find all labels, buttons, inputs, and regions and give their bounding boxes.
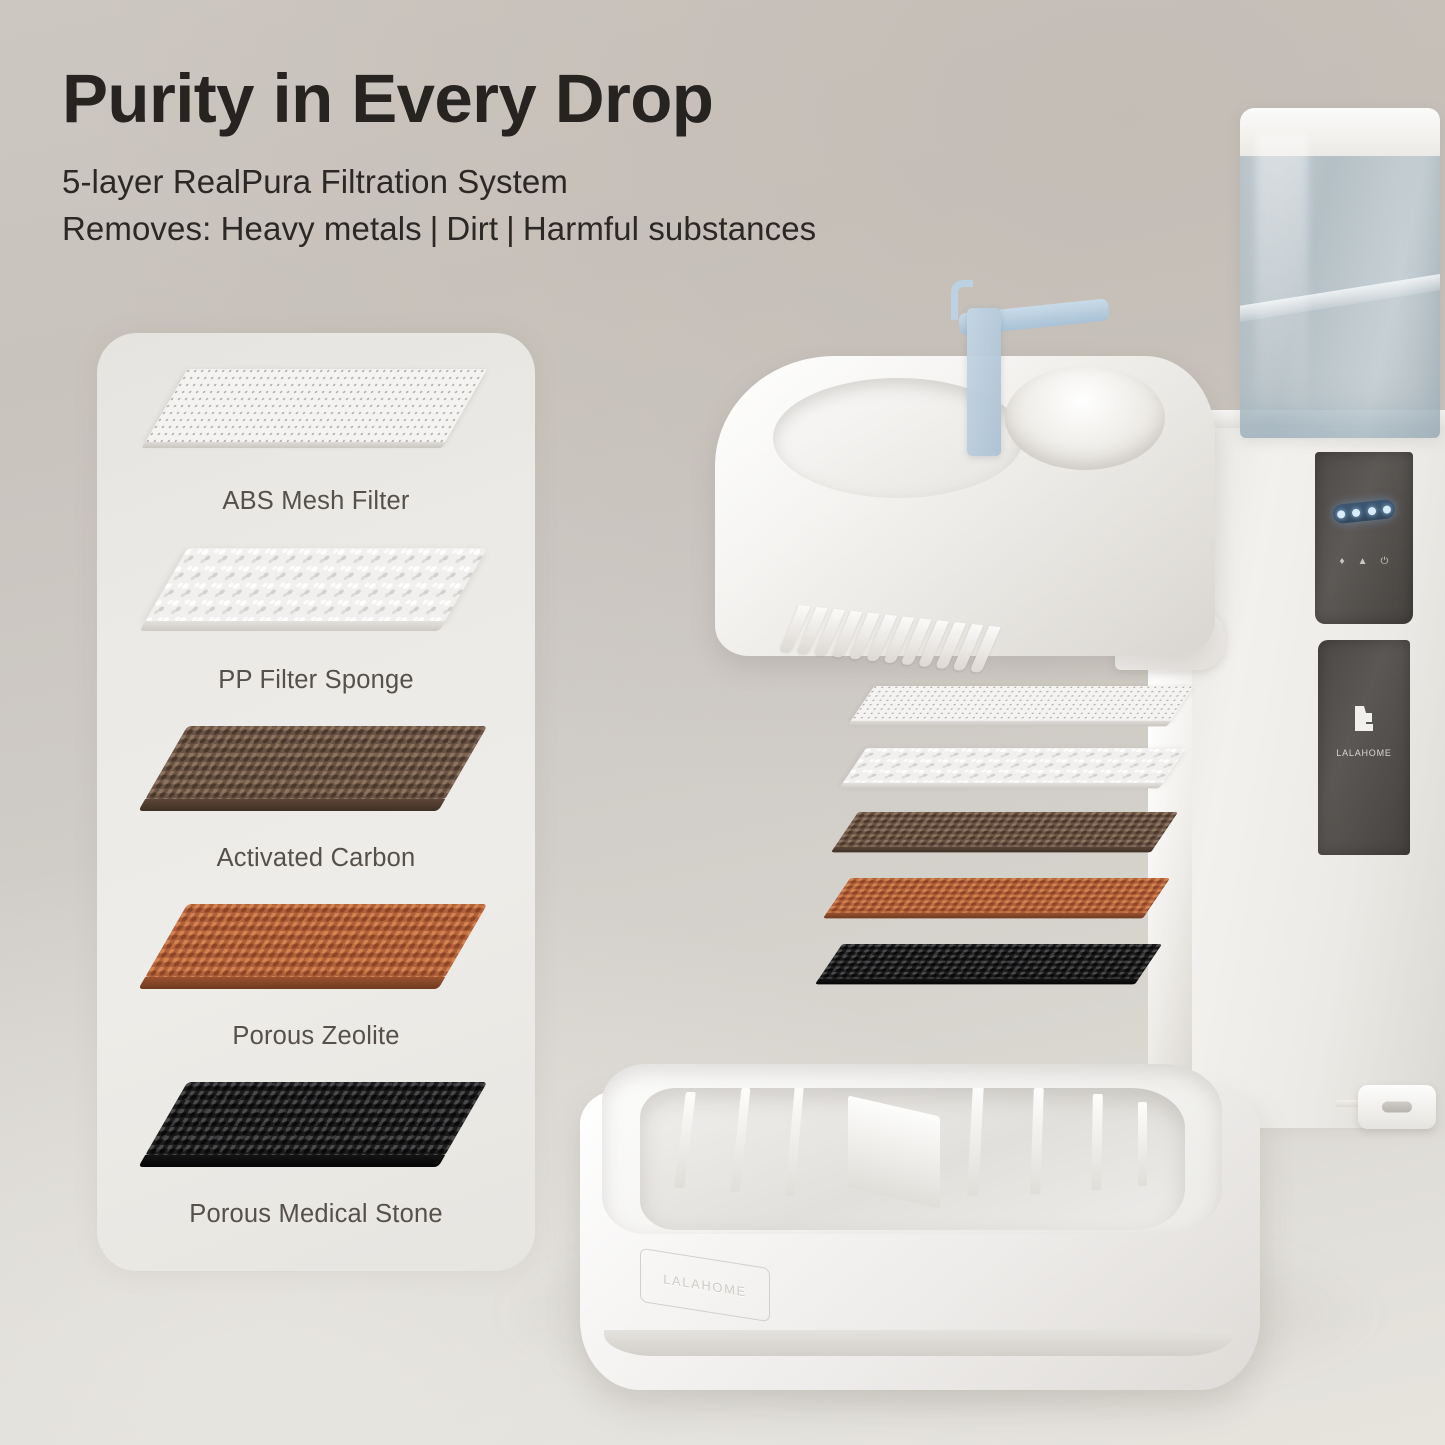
legend-item-porous-medical-stone: Porous Medical Stone (97, 1082, 535, 1229)
removes-separator-1: | (498, 210, 523, 247)
bowl-foot (604, 1330, 1234, 1356)
legend-label-0: ABS Mesh Filter (97, 487, 535, 516)
water-spout (967, 308, 1001, 456)
abs-mesh-filter-swatch (97, 369, 535, 443)
brand-logo-text: LALAHOME (1318, 748, 1410, 758)
porous-zeolite-swatch (97, 904, 535, 978)
removes-item-1: Dirt (446, 210, 498, 247)
product-photo: ♦ ▲ ⏻ LALAHOME (540, 80, 1445, 1445)
water-tank (1240, 108, 1440, 438)
led-dot-3 (1367, 506, 1376, 515)
usb-c-plug (1358, 1085, 1436, 1129)
stack-layer-pp-filter-sponge (842, 748, 1186, 784)
legend-label-4: Porous Medical Stone (97, 1200, 535, 1229)
removes-prefix: Removes: (62, 210, 221, 247)
legend-label-2: Activated Carbon (97, 844, 535, 873)
led-dot-1 (1336, 510, 1345, 519)
control-icon-row: ♦ ▲ ⏻ (1315, 556, 1413, 567)
bowl-cavity (640, 1088, 1185, 1230)
stack-layer-activated-carbon (834, 812, 1178, 848)
legend-label-1: PP Filter Sponge (97, 666, 535, 695)
usb-c-port-slot (1382, 1102, 1412, 1113)
filter-icon[interactable]: ▲ (1358, 556, 1368, 567)
filtration-legend-card: ABS Mesh Filter PP Filter Sponge Activat… (97, 333, 535, 1271)
base-brand-text: LALAHOME (663, 1271, 747, 1299)
pp-filter-sponge-swatch (97, 548, 535, 622)
led-dot-2 (1352, 508, 1361, 517)
base-bowl: LALAHOME (580, 1030, 1260, 1430)
activated-carbon-swatch (97, 726, 535, 800)
legend-item-abs-mesh-filter: ABS Mesh Filter (97, 369, 535, 516)
lalahome-logo-icon (1347, 702, 1381, 740)
stack-layer-porous-zeolite (826, 878, 1170, 914)
legend-item-porous-zeolite: Porous Zeolite (97, 904, 535, 1051)
legend-item-pp-filter-sponge: PP Filter Sponge (97, 548, 535, 695)
cover-funnel (1005, 366, 1165, 470)
infographic-stage: Purity in Every Drop 5-layer RealPura Fi… (0, 0, 1445, 1445)
led-indicator (1332, 499, 1396, 524)
removes-item-0: Heavy metals (221, 210, 422, 247)
exploded-filter-stack (840, 675, 1200, 1055)
brand-logo-panel: LALAHOME (1318, 640, 1410, 855)
stack-layer-porous-medical-stone (818, 944, 1162, 980)
fountain-cover (715, 356, 1215, 656)
led-dot-4 (1383, 505, 1392, 514)
tank-gloss (1256, 134, 1308, 411)
stack-layer-abs-mesh-filter (850, 686, 1194, 722)
legend-label-3: Porous Zeolite (97, 1022, 535, 1051)
porous-medical-stone-swatch (97, 1082, 535, 1156)
control-panel[interactable]: ♦ ▲ ⏻ (1315, 452, 1413, 624)
water-drop-icon[interactable]: ♦ (1340, 556, 1345, 567)
removes-separator-0: | (422, 210, 447, 247)
legend-item-activated-carbon: Activated Carbon (97, 726, 535, 873)
power-icon[interactable]: ⏻ (1381, 556, 1389, 567)
